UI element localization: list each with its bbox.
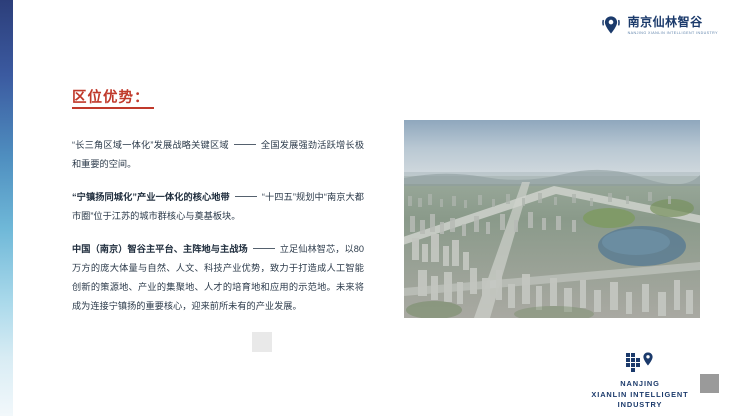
logo-name-cn: 南京仙林智谷 bbox=[628, 15, 718, 29]
map-pin-icon bbox=[600, 14, 622, 36]
paragraph-2-lead: “宁镇扬同城化”产业一体化的核心地带 bbox=[72, 192, 230, 202]
paragraph-3: 中国（南京）智谷主平台、主阵地与主战场立足仙林智芯，以80万方的庞大体量与自然、… bbox=[72, 240, 364, 316]
body-text-column: “长三角区域一体化”发展战略关键区域全国发展强劲活跃增长极和重要的空间。 “宁镇… bbox=[72, 136, 364, 316]
title-underline bbox=[72, 107, 154, 109]
paragraph-3-body: 立足仙林智芯，以80万方的庞大体量与自然、人文、科技产业优势，致力于打造成人工智… bbox=[72, 244, 364, 311]
footer-logo-line1: NANJING bbox=[584, 379, 696, 390]
aerial-photo bbox=[404, 120, 700, 318]
dash-separator bbox=[234, 144, 256, 145]
pixel-pin-icon bbox=[584, 350, 696, 376]
logo-name-en: NANJING XIANLIN INTELLIGENT INDUSTRY bbox=[628, 30, 718, 36]
left-gradient-bar bbox=[0, 0, 13, 416]
paragraph-1-lead: “长三角区域一体化”发展战略关键区域 bbox=[72, 140, 229, 150]
decor-square-light bbox=[252, 332, 272, 352]
header-logo: 南京仙林智谷 NANJING XIANLIN INTELLIGENT INDUS… bbox=[600, 14, 718, 36]
footer-logo-line2: XIANLIN INTELLIGENT bbox=[584, 390, 696, 401]
decor-square-dark bbox=[700, 374, 719, 393]
footer-logo: NANJING XIANLIN INTELLIGENT INDUSTRY bbox=[584, 350, 696, 411]
dash-separator bbox=[253, 248, 275, 249]
page-title: 区位优势： bbox=[72, 86, 150, 107]
paragraph-3-lead: 中国（南京）智谷主平台、主阵地与主战场 bbox=[72, 244, 248, 254]
slide-root: 南京仙林智谷 NANJING XIANLIN INTELLIGENT INDUS… bbox=[0, 0, 740, 416]
footer-logo-line3: INDUSTRY bbox=[584, 400, 696, 411]
dash-separator bbox=[235, 196, 257, 197]
paragraph-1: “长三角区域一体化”发展战略关键区域全国发展强劲活跃增长极和重要的空间。 bbox=[72, 136, 364, 174]
paragraph-2: “宁镇扬同城化”产业一体化的核心地带“十四五”规划中“南京大都市圈”位于江苏的城… bbox=[72, 188, 364, 226]
